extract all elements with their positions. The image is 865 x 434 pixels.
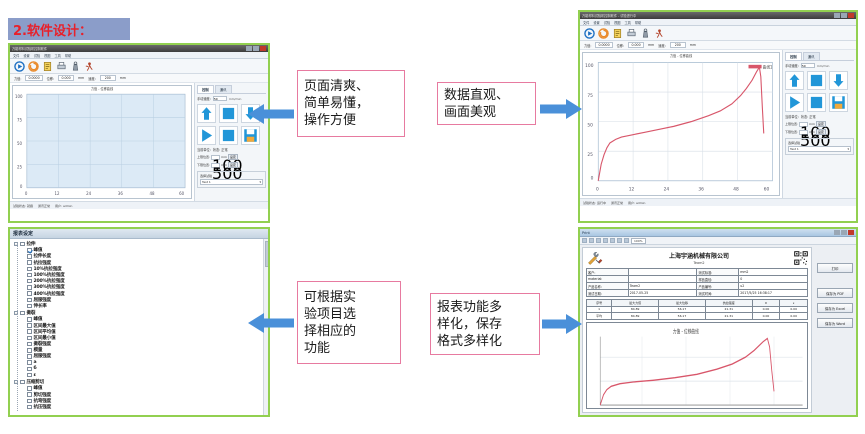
unit-label: mm bbox=[648, 43, 654, 47]
report-icon[interactable] bbox=[42, 61, 53, 72]
tree-item-label: 区间平均值 bbox=[34, 329, 56, 335]
svg-text:0: 0 bbox=[591, 175, 594, 181]
upper-limit-set-button[interactable]: 设定 bbox=[228, 154, 238, 160]
item-checkbox[interactable] bbox=[27, 342, 32, 347]
svg-text:24: 24 bbox=[86, 191, 91, 196]
prev-page-icon[interactable] bbox=[589, 238, 594, 243]
arrow-right-bottom bbox=[541, 311, 583, 337]
manual-speed-input[interactable]: 50 bbox=[213, 96, 227, 101]
cell: 84.89 bbox=[612, 313, 659, 320]
tree-item-label: 抗弯强度 bbox=[34, 398, 52, 404]
status-value-ctrl: 状态: 正常 bbox=[213, 147, 228, 152]
screenshot-panel-top-right: 万能材料试验机控制软件 - 试验进行中 文件 设置 试验 视图 工具 帮助 bbox=[578, 10, 858, 223]
tree-item-label: 撕裂强度 bbox=[34, 341, 52, 347]
callout-line: 格式多样化 bbox=[437, 333, 533, 350]
lower-limit-label: 下限位置: bbox=[197, 163, 210, 167]
stop-button[interactable] bbox=[219, 104, 238, 123]
svg-text:75: 75 bbox=[17, 118, 22, 123]
save-button[interactable] bbox=[241, 126, 260, 145]
tree-item-label: 模量 bbox=[34, 347, 43, 353]
report-preview-window: Print 100% bbox=[580, 229, 856, 415]
tree-item-label: 屈服强度 bbox=[34, 297, 52, 303]
statusbar-state: 试验状态: 就绪 bbox=[13, 204, 33, 208]
play-icon bbox=[787, 95, 802, 110]
table-row: 客户: 测试标准: mm2 bbox=[587, 269, 808, 276]
speed-unit: mm bbox=[120, 76, 126, 80]
app-window-title-right: 万能材料试验机控制软件 - 试验进行中 bbox=[582, 13, 832, 18]
save-excel-button[interactable]: 保存为 Excel bbox=[817, 303, 853, 313]
slide-root: 2.软件设计： 万能材料试验机控制软件 文件 设置 试验 视图 工具 帮助 bbox=[0, 0, 865, 434]
statusbar-comm-right: 通讯正常 bbox=[611, 201, 623, 205]
force-displacement-chart-idle[interactable]: 力值 - 位移曲线 10075 5025 bbox=[12, 85, 192, 199]
speed-label: 速度: bbox=[658, 43, 665, 48]
unit-label-ctrl-right: 当前单位: bbox=[785, 114, 799, 119]
upper-limit-unit: mm bbox=[221, 155, 227, 159]
callout-line: 样化，保存 bbox=[437, 316, 533, 333]
svg-text:25: 25 bbox=[587, 152, 593, 158]
tree-item-label: 剪切强度 bbox=[34, 392, 52, 398]
menu-test[interactable]: 试验 bbox=[604, 20, 610, 25]
disp-label: 位移: bbox=[47, 76, 54, 81]
speed-unit: mm bbox=[690, 43, 696, 47]
tree-item-label: 抗压强度 bbox=[34, 404, 52, 410]
tree-item[interactable]: ε bbox=[27, 372, 268, 378]
tree-item-label: ε bbox=[34, 373, 36, 378]
speed-label: 速度: bbox=[88, 76, 95, 81]
svg-text:100: 100 bbox=[585, 63, 593, 69]
arrow-right-top bbox=[539, 96, 583, 122]
cell: 平均 bbox=[587, 313, 612, 320]
item-checkbox[interactable] bbox=[27, 392, 32, 397]
callout-line: 可根据实 bbox=[304, 289, 394, 306]
item-checkbox[interactable] bbox=[27, 279, 32, 284]
page-setup-icon[interactable] bbox=[624, 238, 629, 243]
form-label: 客户: bbox=[587, 269, 629, 276]
stop-button-right[interactable] bbox=[807, 71, 826, 90]
svg-text:60: 60 bbox=[764, 186, 770, 192]
export-icon[interactable] bbox=[617, 238, 622, 243]
manual-speed-input-right[interactable]: 50 bbox=[801, 63, 815, 68]
tab-control-right[interactable]: 控制 bbox=[785, 52, 802, 60]
item-checkbox[interactable] bbox=[27, 405, 32, 410]
first-page-icon[interactable] bbox=[582, 238, 587, 243]
start-icon[interactable] bbox=[14, 61, 25, 72]
form-value[interactable]: mm2 bbox=[739, 269, 808, 276]
report-window-title: Print bbox=[582, 231, 831, 235]
form-label: 测试日期: bbox=[587, 290, 629, 297]
svg-text:0: 0 bbox=[25, 191, 28, 196]
lower-limit-set-button[interactable]: 设定 bbox=[228, 162, 238, 168]
menu-file[interactable]: 文件 bbox=[13, 53, 19, 58]
manual-speed-label: 手动速度: bbox=[197, 96, 211, 101]
form-label: 样品直径: bbox=[697, 276, 739, 283]
down-arrow-button-right[interactable] bbox=[829, 71, 848, 90]
item-checkbox[interactable] bbox=[27, 254, 32, 259]
item-checkbox[interactable] bbox=[27, 348, 32, 353]
svg-text:0: 0 bbox=[20, 184, 23, 189]
screenshot-panel-bottom-left: 报表设定 - 拉伸 峰值 bbox=[8, 227, 270, 417]
report-icon[interactable] bbox=[612, 28, 623, 39]
chart-canvas: 10075 5025 0 012 2436 4860 bbox=[13, 86, 191, 198]
unit-label: mm bbox=[78, 76, 84, 80]
menu-view[interactable]: 视图 bbox=[44, 53, 50, 58]
tree-item-label: 峰值 bbox=[34, 385, 43, 391]
report-side-buttons[interactable]: 打印 保存为 PDF 保存为 Excel 保存为 Word bbox=[814, 245, 856, 415]
callout-line: 报表功能多 bbox=[437, 299, 533, 316]
svg-text:0: 0 bbox=[596, 186, 599, 192]
zoom-level[interactable]: 100% bbox=[631, 238, 646, 244]
tree-children-compression: 峰值 剪切强度 抗弯强度 抗压强度 bbox=[14, 385, 268, 410]
statusbar-user: 用户: admin bbox=[55, 204, 72, 208]
report-chart-caption: 力值 - 位移曲线 bbox=[673, 327, 699, 335]
tab-comm-right[interactable]: 通讯 bbox=[803, 52, 820, 60]
menu-test[interactable]: 试验 bbox=[34, 53, 40, 58]
force-displacement-chart-active[interactable]: 力值 - 位移曲线 10075 5025 bbox=[582, 52, 780, 196]
print-icon[interactable] bbox=[610, 238, 615, 243]
minimize-icon[interactable] bbox=[246, 46, 252, 51]
svg-text:12: 12 bbox=[55, 191, 60, 196]
tree-item-label: 300%抗拉强度 bbox=[34, 284, 65, 290]
item-checkbox[interactable] bbox=[27, 329, 32, 334]
start-icon[interactable] bbox=[584, 28, 595, 39]
form-value[interactable] bbox=[628, 276, 697, 283]
item-checkbox[interactable] bbox=[27, 317, 32, 322]
menu-view[interactable]: 视图 bbox=[614, 20, 620, 25]
select-test-group: 选择试验 Test 1 ▾ bbox=[197, 171, 266, 188]
form-value[interactable]: 2017-05-25 bbox=[628, 290, 697, 297]
close-icon[interactable] bbox=[260, 46, 266, 51]
force-label: 力值: bbox=[14, 76, 21, 81]
select-test-dropdown[interactable]: Test 1 ▾ bbox=[200, 179, 263, 185]
chevron-down-icon: ▾ bbox=[259, 180, 261, 184]
form-value[interactable]: u2 bbox=[739, 283, 808, 290]
reset-icon[interactable] bbox=[28, 61, 39, 72]
table-row: 产品名称: Team2 产品编号: u2 bbox=[587, 283, 808, 290]
form-value[interactable]: 0 bbox=[739, 276, 808, 283]
save-word-button[interactable]: 保存为 Word bbox=[817, 318, 853, 328]
tree-item-label: 抗拉强度 bbox=[34, 260, 52, 266]
status-row: 力值: 0.0000 位移: 0.000 mm 速度: 200 mm bbox=[10, 74, 268, 83]
tree-guide-line bbox=[17, 243, 18, 411]
app-menubar[interactable]: 文件 设置 试验 视图 工具 帮助 bbox=[10, 52, 268, 59]
report-titlebar: Print bbox=[580, 229, 856, 237]
app-titlebar: 万能材料试验机控制软件 bbox=[10, 45, 268, 52]
group-checkbox[interactable] bbox=[20, 380, 25, 385]
tree-group-compression-shear: - 压缩剪切 峰值 剪切强度 bbox=[14, 379, 268, 410]
svg-text:48: 48 bbox=[149, 191, 154, 196]
app-window-title: 万能材料试验机控制软件 bbox=[12, 46, 244, 51]
form-label: 产品编号: bbox=[697, 283, 739, 290]
manual-speed-unit-right: mm/min bbox=[817, 64, 830, 68]
form-value[interactable]: 2017/5/25 16:38:17 bbox=[739, 290, 808, 297]
control-pane-right: 控制 通讯 手动速度: 50 mm/min bbox=[782, 50, 856, 198]
force-value: 0.0000 bbox=[595, 42, 612, 48]
callout-bottom-right: 报表功能多 样化，保存 格式多样化 bbox=[430, 293, 540, 355]
chevron-down-icon: ▾ bbox=[847, 147, 849, 151]
group-checkbox[interactable] bbox=[20, 311, 25, 316]
manual-speed-label-right: 手动速度: bbox=[785, 63, 799, 68]
tree-item-label: б bbox=[34, 366, 37, 371]
tree-group-label: 撕裂 bbox=[27, 310, 36, 316]
menu-help[interactable]: 帮助 bbox=[635, 20, 641, 25]
stop2-icon bbox=[221, 128, 236, 143]
next-page-icon[interactable] bbox=[596, 238, 601, 243]
callout-line: 画面美观 bbox=[444, 104, 529, 121]
report-title-block: 上海宇涵机械有限公司 Team2 bbox=[608, 251, 790, 265]
cell: 21.31 bbox=[705, 313, 752, 320]
form-label: material: bbox=[587, 276, 629, 283]
cell: 0.00 bbox=[780, 313, 808, 320]
play-button-right[interactable] bbox=[785, 93, 804, 112]
callout-line: 功能 bbox=[304, 340, 394, 357]
tree-item-label: 区间最小值 bbox=[34, 335, 56, 341]
svg-text:50: 50 bbox=[17, 141, 22, 146]
item-checkbox[interactable] bbox=[27, 248, 32, 253]
run-icon[interactable] bbox=[654, 28, 665, 39]
cell: 0.00 bbox=[752, 313, 780, 320]
reset-icon[interactable] bbox=[598, 28, 609, 39]
save-icon bbox=[243, 128, 258, 143]
tree-item-label: 拉伸长度 bbox=[34, 253, 52, 259]
form-value[interactable]: Team2 bbox=[628, 283, 697, 290]
select-test-label: 选择试验 bbox=[200, 174, 263, 178]
tab-comm[interactable]: 通讯 bbox=[215, 85, 232, 93]
close-icon[interactable] bbox=[848, 13, 854, 18]
upper-limit-row-right: 上限位置: 100 mm 设定 bbox=[785, 121, 854, 127]
item-checkbox[interactable] bbox=[27, 291, 32, 296]
report-chart: 力值 - 位移曲线 bbox=[586, 322, 808, 410]
item-checkbox[interactable] bbox=[27, 267, 32, 272]
manual-speed-row-right: 手动速度: 50 mm/min bbox=[785, 63, 854, 68]
weight-icon[interactable] bbox=[70, 61, 81, 72]
table-row: 测试日期: 2017-05-25 测试时间: 2017/5/25 16:38:1… bbox=[587, 290, 808, 297]
maximize-icon[interactable] bbox=[841, 230, 847, 235]
up-arrow-icon bbox=[787, 73, 802, 88]
manual-speed-unit: mm/min bbox=[229, 97, 242, 101]
svg-text:24: 24 bbox=[664, 186, 670, 192]
tree-item-label: 伸长率 bbox=[34, 303, 47, 309]
stop2-button-right[interactable] bbox=[807, 93, 826, 112]
play-button[interactable] bbox=[197, 126, 216, 145]
speed-value: 200 bbox=[670, 42, 686, 48]
callout-line: 验项目选 bbox=[304, 306, 394, 323]
item-checkbox[interactable] bbox=[27, 373, 32, 378]
chart-title: 力值 - 位移曲线 bbox=[13, 86, 191, 91]
upper-limit-input[interactable]: 100 bbox=[211, 155, 220, 160]
maximize-icon[interactable] bbox=[253, 46, 259, 51]
run-icon[interactable] bbox=[84, 61, 95, 72]
maximize-icon[interactable] bbox=[841, 13, 847, 18]
window-controls-right[interactable] bbox=[834, 13, 854, 18]
status-row-right: 力值: 0.0000 位移: 0.000 mm 速度: 200 mm bbox=[580, 41, 856, 50]
save-button-right[interactable] bbox=[829, 93, 848, 112]
speed-value: 200 bbox=[100, 75, 116, 81]
report-data-table: 序号 最大力值 最大位移 抗拉强度 б ε 1 84.89 56.17 21.3… bbox=[586, 299, 808, 320]
callout-top-right: 数据直观、 画面美观 bbox=[437, 82, 536, 125]
svg-text:12: 12 bbox=[629, 186, 635, 192]
report-window-controls[interactable] bbox=[834, 230, 854, 235]
report-form-table: 客户: 测试标准: mm2 material: 样品直径: 0 产品 bbox=[586, 268, 808, 297]
scrollbar-thumb[interactable] bbox=[265, 241, 269, 267]
stop2-icon bbox=[809, 95, 824, 110]
control-tabs[interactable]: 控制 通讯 bbox=[197, 85, 266, 94]
menu-file[interactable]: 文件 bbox=[583, 20, 589, 25]
upper-limit-label-right: 上限位置: bbox=[785, 122, 798, 126]
item-checkbox[interactable] bbox=[27, 399, 32, 404]
item-checkbox[interactable] bbox=[27, 323, 32, 328]
item-checkbox[interactable] bbox=[27, 336, 32, 341]
select-test-dropdown-right[interactable]: Test 1 ▾ bbox=[788, 146, 851, 152]
form-label: 测试时间: bbox=[697, 290, 739, 297]
svg-text:50: 50 bbox=[587, 122, 593, 128]
last-page-icon[interactable] bbox=[603, 238, 608, 243]
chart-legend-right: 曲线1 bbox=[763, 64, 773, 69]
form-label: 测试标准: bbox=[697, 269, 739, 276]
menu-tools[interactable]: 工具 bbox=[625, 20, 631, 25]
minimize-icon[interactable] bbox=[834, 230, 840, 235]
unit-status-row-right: 当前单位: 状态: 正常 bbox=[785, 114, 854, 119]
report-toolbar[interactable]: 100% bbox=[580, 237, 856, 245]
status-value-ctrl-right: 状态: 正常 bbox=[801, 114, 816, 119]
menu-tools[interactable]: 工具 bbox=[55, 53, 61, 58]
tree-item[interactable]: 抗压强度 bbox=[27, 404, 268, 410]
tools-icon bbox=[586, 251, 604, 265]
svg-text:60: 60 bbox=[179, 191, 184, 196]
select-test-value: Test 1 bbox=[202, 180, 211, 184]
tree-group-tear: - 撕裂 峰值 区间最大值 bbox=[14, 310, 268, 378]
upper-limit-input-right[interactable]: 100 bbox=[799, 122, 808, 127]
stop2-button[interactable] bbox=[219, 126, 238, 145]
app-statusbar-right: 试验状态: 运行中 通讯正常 用户: admin bbox=[580, 198, 856, 206]
group-checkbox[interactable] bbox=[20, 242, 25, 247]
svg-text:36: 36 bbox=[698, 186, 704, 192]
control-button-grid-right[interactable] bbox=[785, 71, 854, 112]
upper-limit-row: 上限位置: 100 mm 设定 bbox=[197, 154, 266, 160]
disp-value: 0.000 bbox=[628, 42, 644, 48]
page-title: 2.软件设计： bbox=[8, 18, 130, 40]
item-checkbox[interactable] bbox=[27, 273, 32, 278]
tree-item-label: 屈服强度 bbox=[34, 353, 52, 359]
lower-limit-label-right: 下限位置: bbox=[785, 130, 798, 134]
report-page[interactable]: 上海宇涵机械有限公司 Team2 bbox=[582, 247, 812, 413]
tree-item[interactable]: 伸长率 bbox=[27, 303, 268, 309]
callout-line: 简单易懂， bbox=[304, 95, 398, 112]
lower-limit-input[interactable]: 500 bbox=[211, 163, 220, 168]
weight-icon[interactable] bbox=[640, 28, 651, 39]
window-controls[interactable] bbox=[246, 46, 266, 51]
item-checkbox[interactable] bbox=[27, 354, 32, 359]
menu-help[interactable]: 帮助 bbox=[65, 53, 71, 58]
screenshot-panel-top-left: 万能材料试验机控制软件 文件 设置 试验 视图 工具 帮助 bbox=[8, 43, 270, 223]
app-titlebar-right: 万能材料试验机控制软件 - 试验进行中 bbox=[580, 12, 856, 19]
chart-and-controls: 力值 - 位移曲线 10075 5025 bbox=[10, 83, 268, 201]
item-checkbox[interactable] bbox=[27, 260, 32, 265]
report-body: 上海宇涵机械有限公司 Team2 bbox=[580, 245, 856, 415]
print-icon[interactable] bbox=[626, 28, 637, 39]
upper-limit-set-button-right[interactable]: 设定 bbox=[816, 121, 826, 127]
control-tabs-right[interactable]: 控制 通讯 bbox=[785, 52, 854, 61]
statusbar-user-right: 用户: admin bbox=[628, 201, 645, 205]
force-label: 力值: bbox=[584, 43, 591, 48]
app-toolbar-right[interactable] bbox=[580, 26, 856, 41]
arrow-left-bottom bbox=[247, 310, 295, 336]
tree-item-label: 200%抗拉强度 bbox=[34, 278, 65, 284]
unit-status-row: 当前单位: 状态: 正常 bbox=[197, 147, 266, 152]
form-label: 产品名称: bbox=[587, 283, 629, 290]
statusbar-state-right: 试验状态: 运行中 bbox=[583, 201, 606, 205]
up-arrow-button[interactable] bbox=[197, 104, 216, 123]
app-toolbar[interactable] bbox=[10, 59, 268, 74]
play-icon bbox=[199, 128, 214, 143]
qr-code-icon bbox=[794, 251, 808, 265]
svg-text:25: 25 bbox=[17, 164, 22, 169]
item-checkbox[interactable] bbox=[27, 360, 32, 365]
tree-item-label: 400%抗拉强度 bbox=[34, 291, 65, 297]
disp-label: 位移: bbox=[617, 43, 624, 48]
tree-group-label: 压缩剪切 bbox=[27, 379, 45, 385]
item-checkbox[interactable] bbox=[27, 285, 32, 290]
callout-bottom-left: 可根据实 验项目选 择相应的 功能 bbox=[297, 281, 401, 364]
callout-line: 择相应的 bbox=[304, 323, 394, 340]
up-arrow-icon bbox=[199, 106, 214, 121]
company-name: 上海宇涵机械有限公司 bbox=[608, 251, 790, 260]
unit-label-ctrl: 当前单位: bbox=[197, 147, 211, 152]
save-pdf-button[interactable]: 保存为 PDF bbox=[817, 288, 853, 298]
callout-line: 数据直观、 bbox=[444, 87, 529, 104]
tab-control[interactable]: 控制 bbox=[197, 85, 214, 93]
minimize-icon[interactable] bbox=[834, 13, 840, 18]
svg-text:36: 36 bbox=[118, 191, 123, 196]
report-subtitle: Team2 bbox=[608, 261, 790, 265]
callout-line: 页面清爽、 bbox=[304, 78, 398, 95]
lower-limit-row-right: 下限位置: 500 mm 设定 bbox=[785, 129, 854, 135]
app-statusbar: 试验状态: 就绪 通讯正常 用户: admin bbox=[10, 201, 268, 209]
upper-limit-label: 上限位置: bbox=[197, 155, 210, 159]
app-menubar-right[interactable]: 文件 设置 试验 视图 工具 帮助 bbox=[580, 19, 856, 26]
report-header: 上海宇涵机械有限公司 Team2 bbox=[586, 251, 808, 265]
item-checkbox[interactable] bbox=[27, 386, 32, 391]
item-checkbox[interactable] bbox=[27, 367, 32, 372]
form-value[interactable] bbox=[628, 269, 697, 276]
tree-group-label: 拉伸 bbox=[27, 241, 36, 247]
lower-limit-input-right[interactable]: 500 bbox=[799, 130, 808, 135]
report-setup-title: 报表设定 bbox=[13, 230, 33, 237]
tree-item-label: 10%抗拉强度 bbox=[34, 266, 62, 272]
menu-settings[interactable]: 设置 bbox=[593, 20, 599, 25]
print-button[interactable]: 打印 bbox=[817, 263, 853, 273]
print-icon[interactable] bbox=[56, 61, 67, 72]
report-chart-canvas: 力值 - 位移曲线 bbox=[587, 323, 807, 409]
force-value: 0.0000 bbox=[25, 75, 42, 81]
close-icon[interactable] bbox=[848, 230, 854, 235]
menu-settings[interactable]: 设置 bbox=[23, 53, 29, 58]
report-setup-tree[interactable]: - 拉伸 峰值 拉伸长度 bbox=[10, 239, 268, 415]
select-test-group-right: 选择试验 Test 1 ▾ bbox=[785, 138, 854, 155]
lower-limit-row: 下限位置: 500 mm 设定 bbox=[197, 162, 266, 168]
stop-icon bbox=[809, 73, 824, 88]
report-setup-titlebar: 报表设定 bbox=[10, 229, 268, 239]
down-arrow-icon bbox=[831, 73, 846, 88]
item-checkbox[interactable] bbox=[27, 304, 32, 309]
callout-top-left: 页面清爽、 简单易懂， 操作方便 bbox=[297, 70, 405, 137]
svg-text:100: 100 bbox=[15, 94, 23, 99]
lower-limit-set-button-right[interactable]: 设定 bbox=[816, 129, 826, 135]
statusbar-comm: 通讯正常 bbox=[38, 204, 50, 208]
lower-limit-unit-right: mm bbox=[809, 130, 815, 134]
tree-children-tensile: 峰值 拉伸长度 抗拉强度 10%抗拉强度 bbox=[14, 247, 268, 309]
item-checkbox[interactable] bbox=[27, 298, 32, 303]
up-arrow-button-right[interactable] bbox=[785, 71, 804, 90]
